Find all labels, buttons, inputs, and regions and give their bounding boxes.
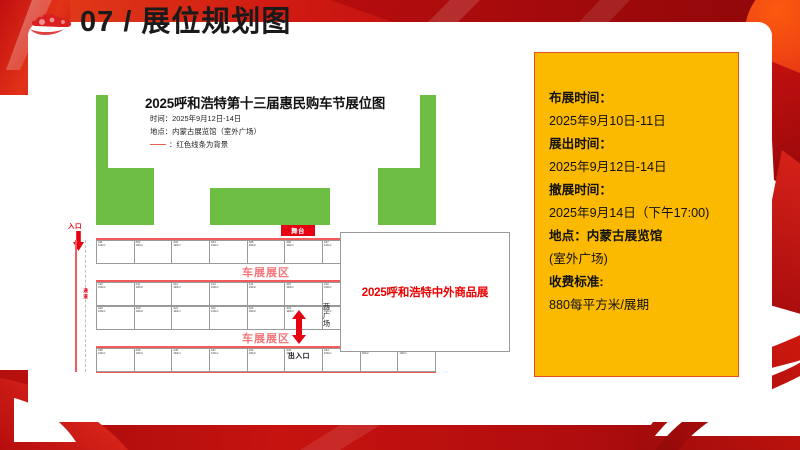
booth-cell-size: 100m² — [98, 310, 105, 313]
booth-cell-size: 100m² — [173, 244, 180, 247]
info-label-fee: 收费标准: — [549, 271, 738, 294]
chinese-cloud-ornament-icon — [30, 10, 76, 36]
booth-cell[interactable]: A31100m² — [210, 349, 248, 371]
booth-cell-size: 100m² — [136, 244, 143, 247]
plan-meta-venue: 地点：内蒙古展览馆（室外广场） — [150, 126, 261, 137]
booth-cell[interactable]: A34100m² — [323, 349, 361, 371]
info-value-venue-detail: (室外广场) — [549, 248, 738, 271]
exit-double-arrow-icon — [292, 310, 306, 344]
commodity-expo-label: 2025呼和浩特中外商品展 — [362, 284, 488, 300]
booth-cell-size: 100m² — [98, 352, 105, 355]
booth-cell-size: 100m² — [173, 352, 180, 355]
booth-cell-size: 100m² — [362, 352, 369, 355]
plan-meta-legend-text: ：红色线条为背景 — [169, 139, 228, 150]
info-label-setup-time: 布展时间： — [549, 87, 738, 110]
booth-cell[interactable]: A03100m² — [172, 241, 210, 263]
booth-cell[interactable]: A01100m² — [97, 241, 135, 263]
entrance-marker: 入口 — [68, 220, 92, 256]
info-label-show-time: 展出时间： — [549, 133, 738, 156]
booth-cell[interactable]: A15100m² — [285, 283, 323, 305]
red-line-legend-swatch — [150, 144, 166, 146]
info-value-fee: 880每平方米/展期 — [549, 294, 738, 317]
booth-cell-size: 100m² — [136, 352, 143, 355]
exit-marker: 出入口 — [282, 310, 316, 360]
booth-cell[interactable]: A14100m² — [248, 283, 286, 305]
booth-cell-size: 100m² — [211, 310, 218, 313]
booth-cell[interactable]: A11100m² — [135, 283, 173, 305]
booth-cell-size: 100m² — [249, 310, 256, 313]
booth-cell[interactable]: A23100m² — [248, 307, 286, 329]
event-info-panel: 布展时间： 2025年9月10日-11日 展出时间： 2025年9月12日-14… — [534, 52, 739, 377]
booth-cell-size: 100m² — [249, 286, 256, 289]
west-plaza-label: 西广场 — [322, 303, 331, 329]
booth-cell[interactable]: A05100m² — [248, 241, 286, 263]
stage-marker: 舞台 — [281, 225, 315, 236]
commodity-expo-area[interactable]: 2025呼和浩特中外商品展 — [340, 232, 510, 352]
booth-cell-size: 100m² — [399, 352, 406, 355]
booth-cell-size: 100m² — [286, 244, 293, 247]
booth-cell[interactable]: A13100m² — [210, 283, 248, 305]
booth-cell-size: 100m² — [249, 352, 256, 355]
plan-meta-legend: ：红色线条为背景 — [150, 139, 228, 150]
booth-cell-size: 100m² — [136, 310, 143, 313]
info-label-venue: 地点：内蒙古展览馆 — [549, 225, 738, 248]
entrance-label: 入口 — [68, 220, 92, 230]
booth-cell[interactable]: A12100m² — [172, 283, 210, 305]
booth-cell-size: 100m² — [173, 286, 180, 289]
booth-cell-size: 100m² — [211, 244, 218, 247]
exit-label: 出入口 — [282, 350, 316, 360]
info-value-teardown-time: 2025年9月14日（下午17:00) — [549, 202, 738, 225]
booth-cell-size: 100m² — [98, 244, 105, 247]
booth-cell-size: 100m² — [324, 244, 331, 247]
passage-dashed-line — [85, 240, 86, 372]
page-header: 07 / 展位规划图 — [30, 8, 291, 37]
booth-cell-size: 100m² — [173, 310, 180, 313]
booth-cell[interactable]: A28100m² — [97, 349, 135, 371]
booth-cell[interactable]: A22100m² — [210, 307, 248, 329]
booth-cell[interactable]: A32100m² — [248, 349, 286, 371]
booth-cell[interactable]: A30100m² — [172, 349, 210, 371]
booth-cell[interactable]: A04100m² — [210, 241, 248, 263]
green-area-center — [210, 188, 330, 225]
booth-cell[interactable]: A06100m² — [285, 241, 323, 263]
passage-red-line — [75, 240, 77, 372]
booth-cell-size: 100m² — [286, 286, 293, 289]
booth-cell[interactable]: A20100m² — [135, 307, 173, 329]
plan-title: 2025呼和浩特第十三届惠民购车节展位图 — [110, 92, 420, 112]
booth-cell[interactable]: A19100m² — [97, 307, 135, 329]
floor-plan: 2025呼和浩特第十三届惠民购车节展位图 时间：2025年9月12日-14日 地… — [60, 60, 520, 370]
booth-cell-size: 100m² — [136, 286, 143, 289]
booth-cell[interactable]: A21100m² — [172, 307, 210, 329]
booth-cell[interactable]: A02100m² — [135, 241, 173, 263]
booth-cell-size: 100m² — [324, 352, 331, 355]
booth-cell[interactable]: A29100m² — [135, 349, 173, 371]
booth-cell[interactable]: A35100m² — [361, 349, 399, 371]
passage-label: 通道 — [81, 288, 90, 299]
booth-cell-size: 100m² — [324, 286, 331, 289]
info-value-show-time: 2025年9月12日-14日 — [549, 156, 738, 179]
booth-cell-size: 100m² — [211, 286, 218, 289]
booth-cell[interactable]: A36100m² — [398, 349, 435, 371]
booth-cell-size: 100m² — [249, 244, 256, 247]
page-title: 07 / 展位规划图 — [80, 8, 291, 37]
plan-meta-date: 时间：2025年9月12日-14日 — [150, 113, 241, 124]
booth-cell-size: 100m² — [98, 286, 105, 289]
info-value-setup-time: 2025年9月10日-11日 — [549, 110, 738, 133]
booth-cell-size: 100m² — [211, 352, 218, 355]
booth-cell[interactable]: A10100m² — [97, 283, 135, 305]
info-label-teardown-time: 撤展时间： — [549, 179, 738, 202]
